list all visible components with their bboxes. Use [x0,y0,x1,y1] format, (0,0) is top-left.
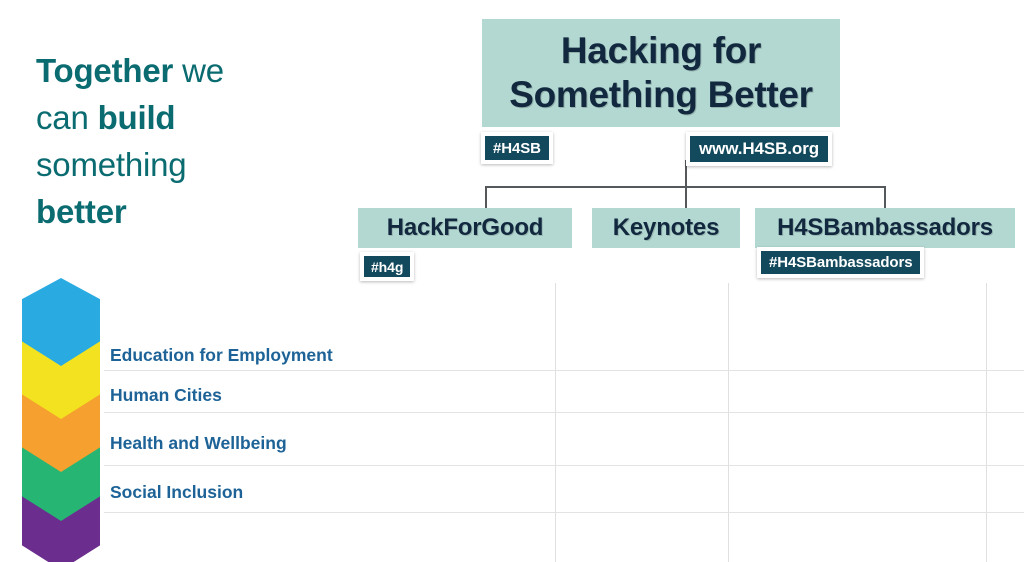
connector-drop-keynotes [685,186,687,208]
grid-line-vertical [728,283,729,562]
hexagon-stack [22,278,102,536]
headline-word-something: something [36,146,186,183]
headline: Together we can build something better [36,48,306,235]
title-line-1: Hacking for [561,30,761,71]
headline-word-can: can [36,99,98,136]
node-hackforgood-label: HackForGood [387,214,543,242]
node-h4sbambassadors-label: H4SBambassadors [777,214,993,242]
node-hackforgood[interactable]: HackForGood [358,208,572,248]
connector-drop-hackforgood [485,186,487,208]
list-item-social-inclusion[interactable]: Social Inclusion [110,482,243,503]
headline-word-together: Together [36,52,173,89]
badge-h4g-hashtag[interactable]: #h4g [360,252,414,281]
node-h4sbambassadors[interactable]: H4SBambassadors [755,208,1015,248]
grid-line-vertical [555,283,556,562]
node-keynotes-label: Keynotes [613,214,719,242]
headline-word-better: better [36,193,127,230]
title-line-2: Something Better [509,74,813,115]
connector-drop-ambassadors [884,186,886,208]
headline-word-we: we [173,52,224,89]
title-text: Hacking for Something Better [509,29,813,116]
slide-canvas: Together we can build something better E… [0,0,1024,562]
list-item-health-and-wellbeing[interactable]: Health and Wellbeing [110,433,287,454]
badge-h4sb-hashtag[interactable]: #H4SB [481,132,553,164]
list-item-human-cities[interactable]: Human Cities [110,385,222,406]
grid-line-horizontal [104,465,1024,466]
badge-h4sb-website[interactable]: www.H4SB.org [686,132,832,166]
grid-line-vertical [986,283,987,562]
node-keynotes[interactable]: Keynotes [592,208,740,248]
grid-line-horizontal [104,512,1024,513]
headline-word-build: build [98,99,176,136]
list-item-education-for-employment[interactable]: Education for Employment [110,345,333,366]
badge-h4sbambassadors-hashtag[interactable]: #H4SBambassadors [757,247,924,278]
title-box[interactable]: Hacking for Something Better [482,19,840,127]
grid-line-horizontal [104,370,1024,371]
grid-line-horizontal [104,412,1024,413]
